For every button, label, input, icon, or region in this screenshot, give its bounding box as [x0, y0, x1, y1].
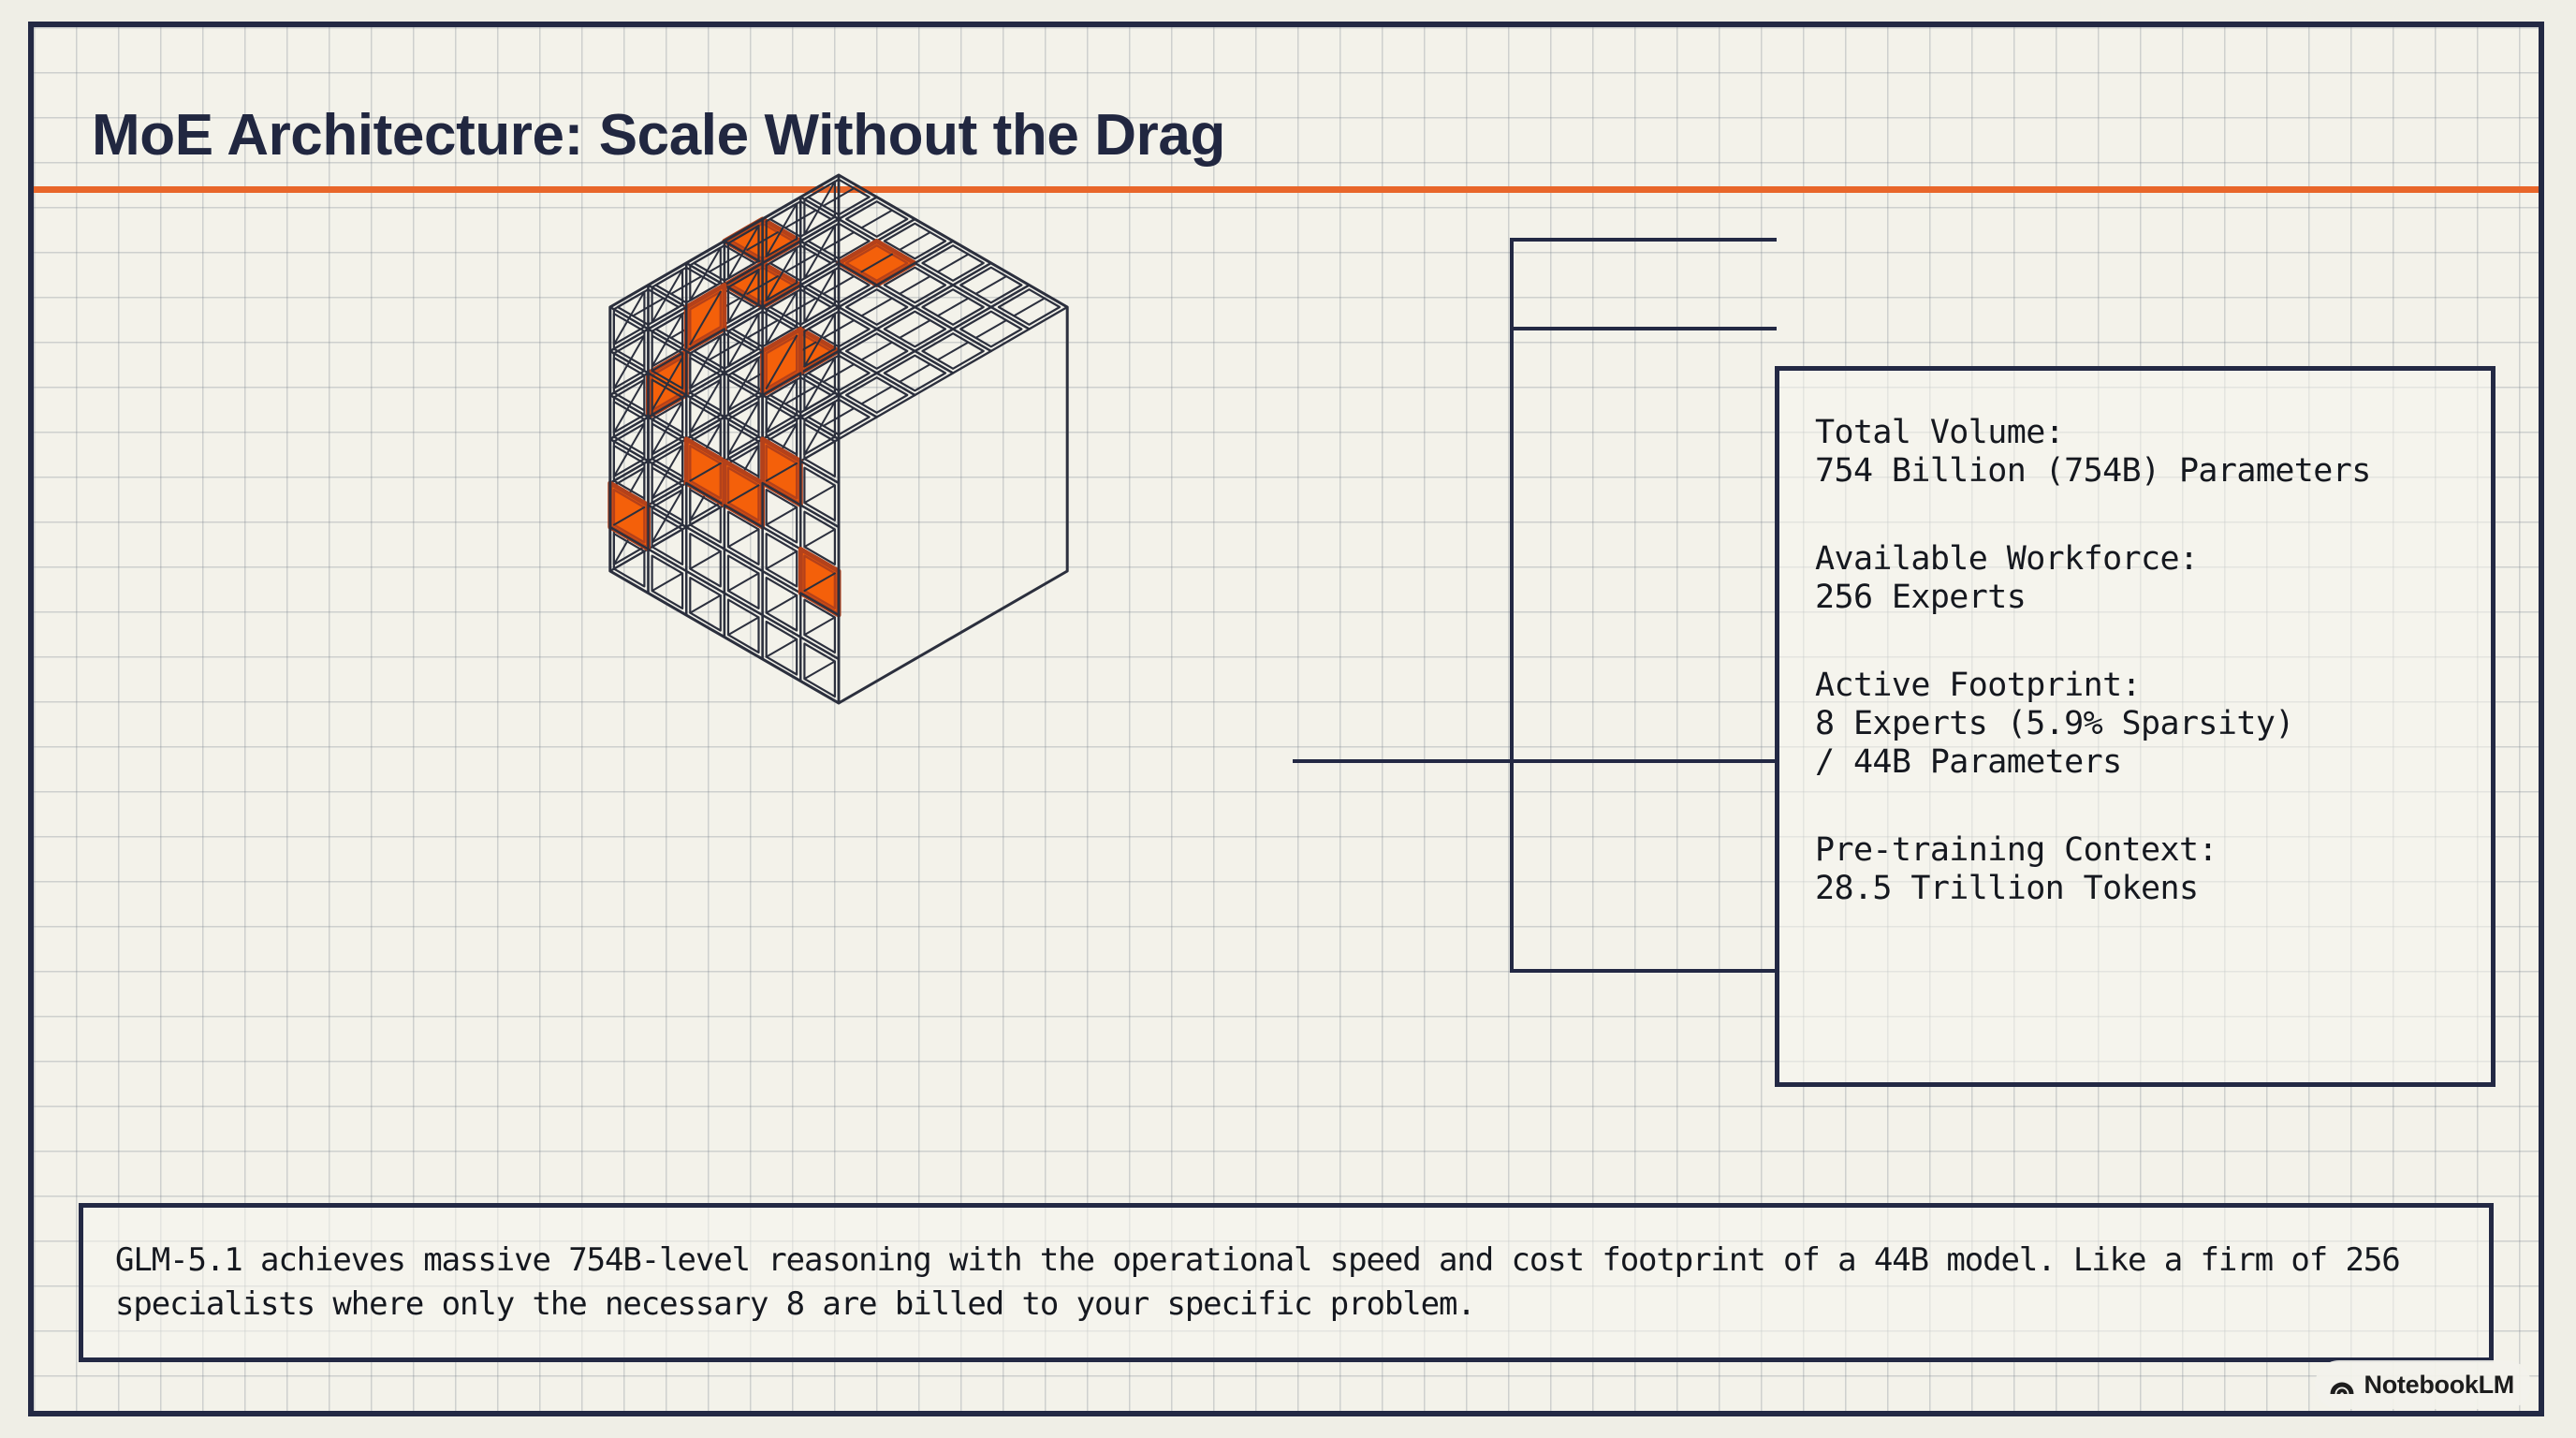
notebooklm-spiral-icon [2328, 1371, 2356, 1399]
bracket-stub-1 [1510, 238, 1777, 242]
stat-total-volume: Total Volume: 754 Billion (754B) Paramet… [1815, 414, 2491, 490]
bracket-stub-2 [1510, 327, 1777, 330]
stat-label: Total Volume: [1815, 414, 2491, 452]
stat-value: 256 Experts [1815, 579, 2491, 617]
stat-label: Available Workforce: [1815, 540, 2491, 579]
stat-pretraining-context: Pre-training Context: 28.5 Trillion Toke… [1815, 831, 2491, 907]
stat-active-footprint: Active Footprint: 8 Experts (5.9% Sparsi… [1815, 667, 2491, 781]
stat-value: 8 Experts (5.9% Sparsity) [1815, 705, 2491, 743]
stat-label: Pre-training Context: [1815, 831, 2491, 870]
leader-line-horizontal [1293, 759, 1513, 763]
notebooklm-badge: NotebookLM [2315, 1360, 2531, 1409]
stat-value-2: / 44B Parameters [1815, 743, 2491, 782]
stats-panel: Total Volume: 754 Billion (754B) Paramet… [1775, 366, 2495, 1087]
bracket-stub-3 [1510, 759, 1777, 763]
badge-label: NotebookLM [2364, 1371, 2514, 1400]
caption-box: GLM-5.1 achieves massive 754B-level reas… [79, 1203, 2494, 1362]
stat-value: 754 Billion (754B) Parameters [1815, 452, 2491, 491]
bracket-stub-4 [1510, 969, 1777, 973]
stat-label: Active Footprint: [1815, 667, 2491, 705]
caption-text: GLM-5.1 achieves massive 754B-level reas… [115, 1239, 2457, 1327]
stat-available-workforce: Available Workforce: 256 Experts [1815, 540, 2491, 616]
stat-value: 28.5 Trillion Tokens [1815, 870, 2491, 908]
slide-canvas: MoE Architecture: Scale Without the Drag… [28, 22, 2544, 1416]
isometric-expert-cube [315, 130, 1363, 711]
bracket-spine-mid [1510, 238, 1514, 973]
